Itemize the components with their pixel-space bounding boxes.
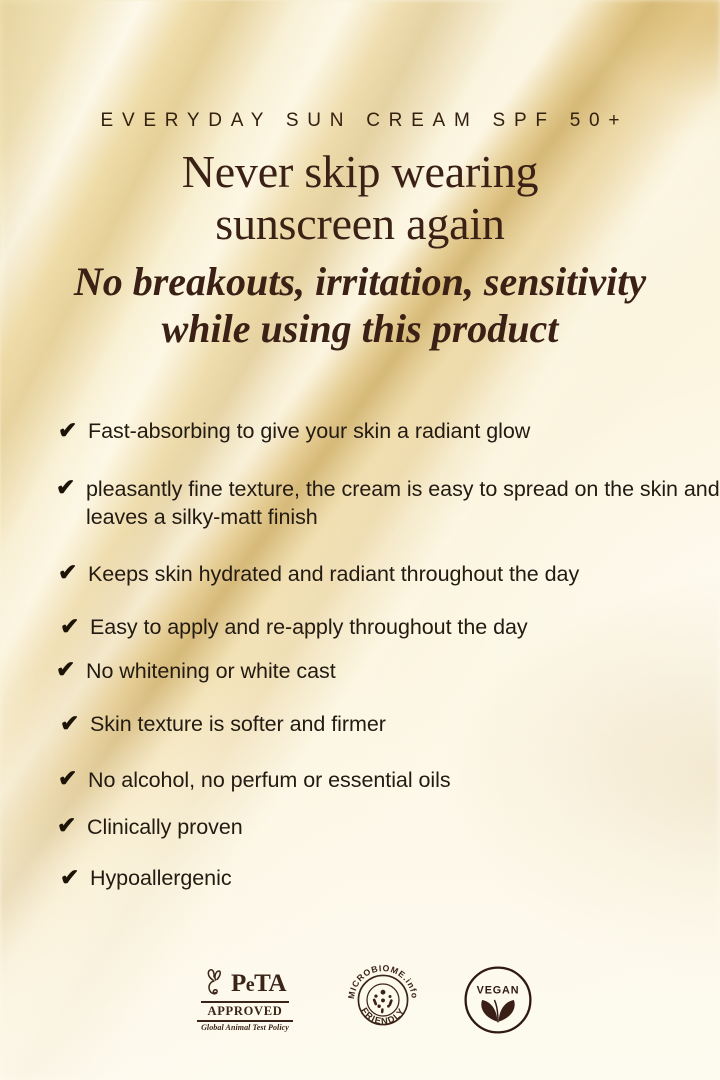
check-icon: ✔ xyxy=(60,614,90,638)
peta-divider-top xyxy=(201,1001,289,1002)
peta-approved-badge: PeTA APPROVED Global Animal Test Policy xyxy=(186,968,304,1031)
list-item-label: No whitening or white cast xyxy=(86,658,720,686)
microbiome-seal-icon: MICROBIOME.info FRIENDLY xyxy=(344,961,422,1039)
list-item-label: Keeps skin hydrated and radiant througho… xyxy=(88,561,720,589)
list-item-label: Fast-absorbing to give your skin a radia… xyxy=(88,418,720,446)
page-title: Never skip wearing sunscreen again xyxy=(0,146,720,250)
peta-rabbit-icon xyxy=(204,968,228,998)
benefits-list: ✔ Fast-absorbing to give your skin a rad… xyxy=(0,418,720,893)
list-item-label: Hypoallergenic xyxy=(90,865,720,893)
check-icon: ✔ xyxy=(60,711,90,735)
page-subtitle: No breakouts, irritation, sensitivity wh… xyxy=(0,258,720,352)
headline-line-1: Never skip wearing xyxy=(0,146,720,198)
list-item: ✔ No alcohol, no perfum or essential oil… xyxy=(58,767,720,795)
list-item: ✔ Easy to apply and re-apply throughout … xyxy=(60,614,720,642)
list-item: ✔ Fast-absorbing to give your skin a rad… xyxy=(58,418,720,446)
check-icon: ✔ xyxy=(57,814,87,837)
peta-approved-label: APPROVED xyxy=(208,1005,283,1018)
peta-divider-bottom xyxy=(197,1020,293,1021)
list-item: ✔ Hypoallergenic xyxy=(60,865,720,893)
check-icon: ✔ xyxy=(58,418,88,442)
list-item-label: pleasantly fine texture, the cream is ea… xyxy=(86,476,720,532)
list-item: ✔ No whitening or white cast xyxy=(56,658,720,686)
list-item-label: Clinically proven xyxy=(87,814,720,842)
check-icon: ✔ xyxy=(58,767,88,790)
peta-logo-row: PeTA xyxy=(204,968,286,998)
headline-line-2: sunscreen again xyxy=(0,198,720,250)
list-item: ✔ Keeps skin hydrated and radiant throug… xyxy=(58,561,720,589)
vegan-badge: VEGAN xyxy=(462,964,534,1036)
subhead-line-2: while using this product xyxy=(0,305,720,352)
list-item-label: Easy to apply and re-apply throughout th… xyxy=(90,614,720,642)
peta-policy-label: Global Animal Test Policy xyxy=(201,1024,289,1032)
check-icon: ✔ xyxy=(58,561,88,584)
check-icon: ✔ xyxy=(56,476,86,499)
list-item: ✔ Clinically proven xyxy=(57,814,720,842)
list-item-label: No alcohol, no perfum or essential oils xyxy=(88,767,720,795)
poster-content: EVERYDAY SUN CREAM SPF 50+ Never skip we… xyxy=(0,0,720,1080)
certification-badges: PeTA APPROVED Global Animal Test Policy xyxy=(0,950,720,1050)
peta-wordmark: PeTA xyxy=(231,971,286,996)
list-item: ✔ Skin texture is softer and firmer xyxy=(60,711,720,739)
list-item: ✔ pleasantly fine texture, the cream is … xyxy=(56,476,720,532)
check-icon: ✔ xyxy=(60,865,90,889)
subhead-line-1: No breakouts, irritation, sensitivity xyxy=(0,258,720,305)
list-item-label: Skin texture is softer and firmer xyxy=(90,711,720,739)
product-benefits-poster: EVERYDAY SUN CREAM SPF 50+ Never skip we… xyxy=(0,0,720,1080)
check-icon: ✔ xyxy=(56,658,86,681)
svg-text:VEGAN: VEGAN xyxy=(477,985,520,997)
eyebrow-label: EVERYDAY SUN CREAM SPF 50+ xyxy=(0,110,720,132)
microbiome-friendly-badge: MICROBIOME.info FRIENDLY xyxy=(344,961,422,1039)
vegan-seal-icon: VEGAN xyxy=(462,964,534,1036)
